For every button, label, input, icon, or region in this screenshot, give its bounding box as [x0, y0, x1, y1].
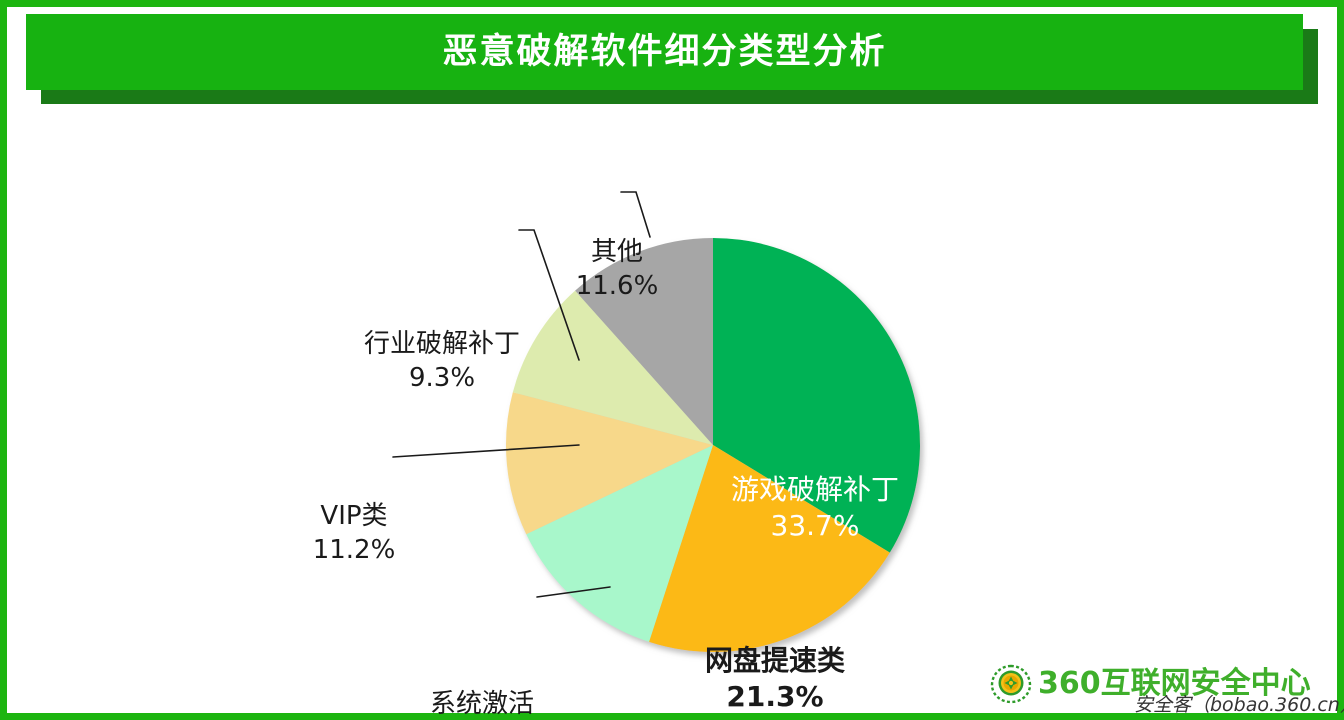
pie-label-netdisk-accel-name: 网盘提速类: [675, 643, 875, 679]
pie-label-system-activation-name: 系统激活: [397, 688, 567, 720]
pie-chart: 其他 11.6% 行业破解补丁 9.3% VIP类 11.2% 系统激活 12.…: [7, 110, 1337, 710]
title-banner-body: 恶意破解软件细分类型分析: [26, 14, 1303, 90]
pie-label-netdisk-accel-value: 21.3%: [675, 679, 875, 715]
pie-label-other: 其他 11.6%: [547, 236, 687, 304]
pie-label-vip: VIP类 11.2%: [289, 500, 419, 568]
pie-label-vip-name: VIP类: [289, 500, 419, 534]
pie-label-system-activation: 系统激活 12.9%: [397, 688, 567, 720]
shield-emblem-icon: [990, 663, 1032, 705]
pie-label-game-crack-patch-value: 33.7%: [700, 508, 930, 544]
pie-label-industry-crack-patch-value: 9.3%: [337, 362, 547, 396]
page-border-left: [0, 0, 7, 720]
pie-label-netdisk-accel: 网盘提速类 21.3%: [675, 643, 875, 716]
page-border-top: [0, 0, 1344, 7]
watermark-text: 安全客（bobao.360.cn）: [1134, 690, 1344, 717]
pie-label-industry-crack-patch-name: 行业破解补丁: [337, 328, 547, 362]
page-border-right: [1337, 0, 1344, 720]
pie-label-other-name: 其他: [547, 236, 687, 270]
pie-label-game-crack-patch-name: 游戏破解补丁: [700, 472, 930, 508]
pie-label-vip-value: 11.2%: [289, 534, 419, 568]
pie-label-other-value: 11.6%: [547, 270, 687, 304]
pie-label-industry-crack-patch: 行业破解补丁 9.3%: [337, 328, 547, 396]
chart-page: 恶意破解软件细分类型分析: [0, 0, 1344, 720]
page-title: 恶意破解软件细分类型分析: [442, 35, 886, 70]
pie-chart-svg: [7, 110, 1337, 710]
leader-line-other: [621, 192, 650, 237]
pie-label-game-crack-patch: 游戏破解补丁 33.7%: [700, 472, 930, 545]
title-banner: 恶意破解软件细分类型分析: [26, 14, 1318, 104]
